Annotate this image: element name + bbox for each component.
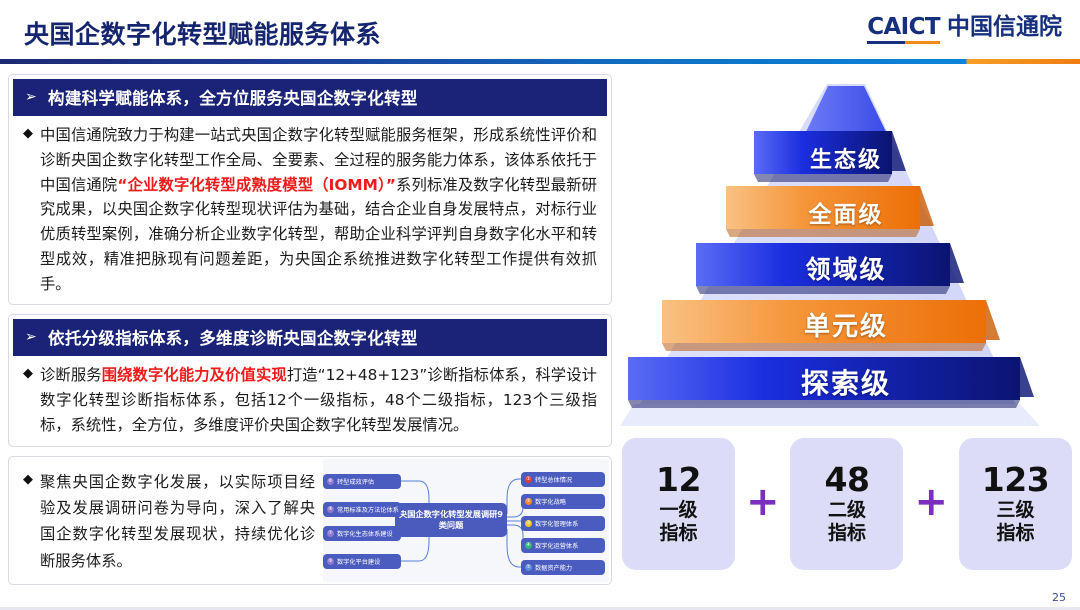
paragraph-2-pre: 诊断服务 (40, 366, 102, 384)
mindmap-right-label-2: 数字化战略 (535, 497, 566, 506)
paragraph-3-text: 聚焦央国企数字化发展，以实际项目经验及发展调研问卷为导向，深入了解央国企数字化转… (40, 469, 315, 574)
right-content-column: 生态级 全面级 领域级 单元级 探索级 12 一级 指标 + 48 二级 指标 … (620, 74, 1072, 602)
section-card-2: ➢ 依托分级指标体系，多维度诊断央国企数字化转型 ◆ 诊断服务围绕数字化能力及价… (8, 314, 612, 446)
pyramid-level-label-4: 单元级 (620, 306, 1072, 343)
metric-caption-2-line2: 指标 (828, 522, 866, 545)
arrow-right-icon: ➢ (25, 90, 37, 104)
metric-box-level-2: 48 二级 指标 (790, 438, 903, 570)
node-marker-icon: ② (525, 498, 532, 505)
pyramid-level-label-2: 全面级 (620, 195, 1072, 229)
metric-box-level-1: 12 一级 指标 (622, 438, 735, 570)
mindmap-left-label-1: 转型成效评估 (337, 477, 374, 486)
plus-icon-1: + (746, 482, 780, 522)
maturity-pyramid: 生态级 全面级 领域级 单元级 探索级 (620, 74, 1072, 432)
mindmap-right-node-1: ① 转型总体情况 (521, 472, 605, 487)
node-marker-icon: ⑧ (327, 506, 334, 513)
node-marker-icon: ⑦ (327, 530, 334, 537)
metric-caption-1-line2: 指标 (659, 522, 697, 545)
caict-logo: CAICT 中国信通院 (867, 16, 1062, 44)
section-band-title-2: 依托分级指标体系，多维度诊断央国企数字化转型 (48, 325, 418, 349)
metric-caption-1-line1: 一级 (659, 499, 697, 522)
mindmap-right-label-3: 数字化管理体系 (535, 519, 578, 528)
plus-icon-2: + (914, 482, 948, 522)
diamond-bullet-icon: ◆ (23, 363, 33, 437)
section-band-2: ➢ 依托分级指标体系，多维度诊断央国企数字化转型 (13, 319, 607, 356)
metric-box-level-3: 123 三级 指标 (959, 438, 1072, 570)
mindmap-left-node-1: ⑥ 转型成效评估 (323, 474, 401, 489)
page-header: 央国企数字化转型赋能服务体系 CAICT 中国信通院 (0, 0, 1080, 62)
section-card-3: ◆ 聚焦央国企数字化发展，以实际项目经验及发展调研问卷为导向，深入了解央国企数字… (8, 456, 612, 585)
mindmap-right-node-5: ⑤ 数据资产能力 (521, 560, 605, 575)
metric-caption-2-line1: 二级 (828, 499, 866, 522)
section-paragraph-1: ◆ 中国信通院致力于构建一站式央国企数字化转型赋能服务框架，形成系统性评价和诊断… (9, 116, 611, 296)
mindmap-right-label-5: 数据资产能力 (535, 563, 572, 572)
logo-chinese-name: 中国信通院 (947, 16, 1062, 44)
diamond-bullet-icon: ◆ (23, 123, 33, 296)
pyramid-level-label-1: 生态级 (620, 142, 1072, 174)
node-marker-icon: ① (525, 476, 532, 483)
section-paragraph-2: ◆ 诊断服务围绕数字化能力及价值实现打造“12+48+123”诊断指标体系，科学… (9, 356, 611, 437)
left-content-column: ➢ 构建科学赋能体系，全方位服务央国企数字化转型 ◆ 中国信通院致力于构建一站式… (8, 74, 612, 594)
paragraph-1-highlight: “企业数字化转型成熟度模型（IOMM）” (117, 176, 396, 194)
section-band-1: ➢ 构建科学赋能体系，全方位服务央国企数字化转型 (13, 79, 607, 116)
mindmap-left-label-3: 数字化生态体系建设 (337, 529, 393, 538)
node-marker-icon: ⑥ (327, 478, 334, 485)
node-marker-icon: ⑤ (525, 564, 532, 571)
section-card-1: ➢ 构建科学赋能体系，全方位服务央国企数字化转型 ◆ 中国信通院致力于构建一站式… (8, 74, 612, 305)
metric-caption-3-line1: 三级 (996, 499, 1034, 522)
mindmap-left-node-2: ⑧ 常用标准及方法论体系 (323, 502, 401, 517)
header-divider (0, 59, 1080, 64)
paragraph-2-highlight: 围绕数字化能力及价值实现 (102, 366, 287, 384)
section-band-title-1: 构建科学赋能体系，全方位服务央国企数字化转型 (48, 85, 418, 109)
page-title: 央国企数字化转型赋能服务体系 (24, 15, 381, 51)
diamond-bullet-icon: ◆ (23, 469, 33, 574)
node-marker-icon: ③ (525, 520, 532, 527)
mindmap-left-label-4: 数字化平台建设 (337, 557, 380, 566)
page-number: 25 (1052, 591, 1066, 604)
mindmap-left-node-4: ⑨ 数字化平台建设 (323, 554, 401, 569)
pyramid-level-label-3: 领域级 (620, 250, 1072, 286)
logo-wordmark: CAICT (867, 16, 940, 44)
mindmap-right-node-3: ③ 数字化管理体系 (521, 516, 605, 531)
metric-number-2: 48 (825, 463, 870, 498)
mindmap-left-label-2: 常用标准及方法论体系 (337, 505, 399, 514)
metric-number-3: 123 (982, 463, 1049, 498)
mindmap-right-node-4: ④ 数字化运营体系 (521, 538, 605, 553)
mindmap-right-node-2: ② 数字化战略 (521, 494, 605, 509)
mindmap-diagram: 央国企数字化转型发展调研9类问题 ⑥ 转型成效评估 ⑧ 常用标准及方法论体系 ⑦… (323, 459, 609, 582)
mindmap-left-node-3: ⑦ 数字化生态体系建设 (323, 526, 401, 541)
mindmap-right-label-4: 数字化运营体系 (535, 541, 578, 550)
section-paragraph-3: ◆ 聚焦央国企数字化发展，以实际项目经验及发展调研问卷为导向，深入了解央国企数字… (9, 457, 323, 584)
mindmap-right-label-1: 转型总体情况 (535, 475, 572, 484)
indicator-metrics-row: 12 一级 指标 + 48 二级 指标 + 123 三级 指标 (622, 438, 1072, 570)
mindmap-center-node: 央国企数字化转型发展调研9类问题 (395, 503, 507, 537)
pyramid-level-label-5: 探索级 (620, 362, 1072, 402)
metric-number-1: 12 (656, 463, 701, 498)
node-marker-icon: ④ (525, 542, 532, 549)
metric-caption-3-line2: 指标 (996, 522, 1034, 545)
arrow-right-icon: ➢ (25, 330, 37, 344)
node-marker-icon: ⑨ (327, 558, 334, 565)
